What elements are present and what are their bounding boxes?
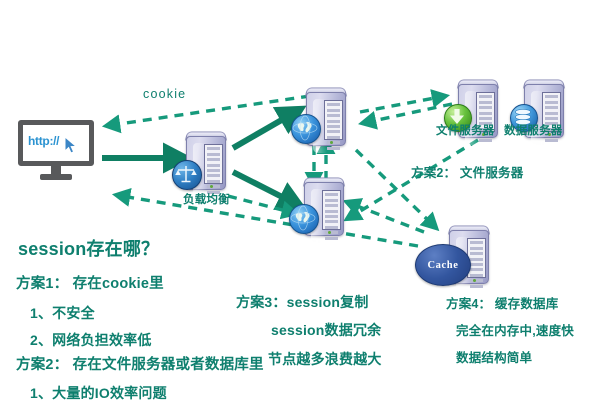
diagram-canvas: http:// 负载均衡	[0, 0, 612, 412]
url-text: http://	[28, 134, 59, 148]
notes-middle-line-2: session数据冗余	[271, 323, 381, 337]
arrow-lb-to-web-bottom	[233, 172, 292, 202]
edge-label-plan2-file-server: 方案2： 文件服务器	[411, 167, 523, 180]
notes-right-line-2: 完全在内存中,速度快	[456, 325, 574, 338]
globe-icon	[291, 114, 321, 144]
server-led	[473, 279, 476, 282]
arrow-cache-to-lb-dashed	[122, 196, 418, 246]
notes-right-line-1: 方案4： 缓存数据库	[446, 298, 558, 311]
web-server-top-node	[300, 86, 352, 148]
notes-left-line-5: 1、大量的IO效率问题	[30, 386, 167, 400]
server-panel	[467, 238, 486, 278]
notes-left-line-2: 1、不安全	[30, 306, 95, 320]
notes-middle-line-1: 方案3：session复制	[236, 295, 369, 309]
cache-label: Cache	[428, 260, 459, 271]
notes-title: session存在哪？	[18, 240, 159, 258]
client-monitor: http://	[18, 120, 94, 182]
notes-left-line-3: 2、网络负担效率低	[30, 333, 152, 347]
monitor-base	[40, 174, 72, 180]
cache-server-node: Cache	[443, 224, 495, 286]
server-led	[330, 141, 333, 144]
server-panel	[324, 100, 343, 140]
notes-right-line-3: 数据结构简单	[456, 352, 532, 365]
server-led	[210, 185, 213, 188]
web-server-bottom-node	[298, 176, 350, 238]
load-balancer-node	[180, 130, 232, 192]
arrow-lb-to-web-top	[233, 114, 292, 148]
balance-scales-icon	[172, 160, 202, 190]
load-balancer-label: 负载均衡	[183, 195, 230, 207]
cache-icon: Cache	[415, 244, 471, 286]
data-server-label: 数据服务器	[504, 126, 563, 138]
arrow-web-top-to-cache	[356, 150, 432, 224]
globe-icon	[289, 204, 319, 234]
server-led	[328, 231, 331, 234]
server-panel	[322, 190, 341, 230]
notes-middle-line-3: 节点越多浪费越大	[268, 352, 382, 366]
server-panel	[204, 144, 223, 184]
mouse-cursor-icon	[64, 136, 78, 159]
notes-left-line-4: 方案2： 存在文件服务器或者数据库里	[16, 358, 264, 373]
file-server-label: 文件服务器	[436, 126, 495, 138]
edge-label-cookie: cookie	[143, 88, 186, 101]
notes-left-line-1: 方案1： 存在cookie里	[16, 277, 164, 292]
